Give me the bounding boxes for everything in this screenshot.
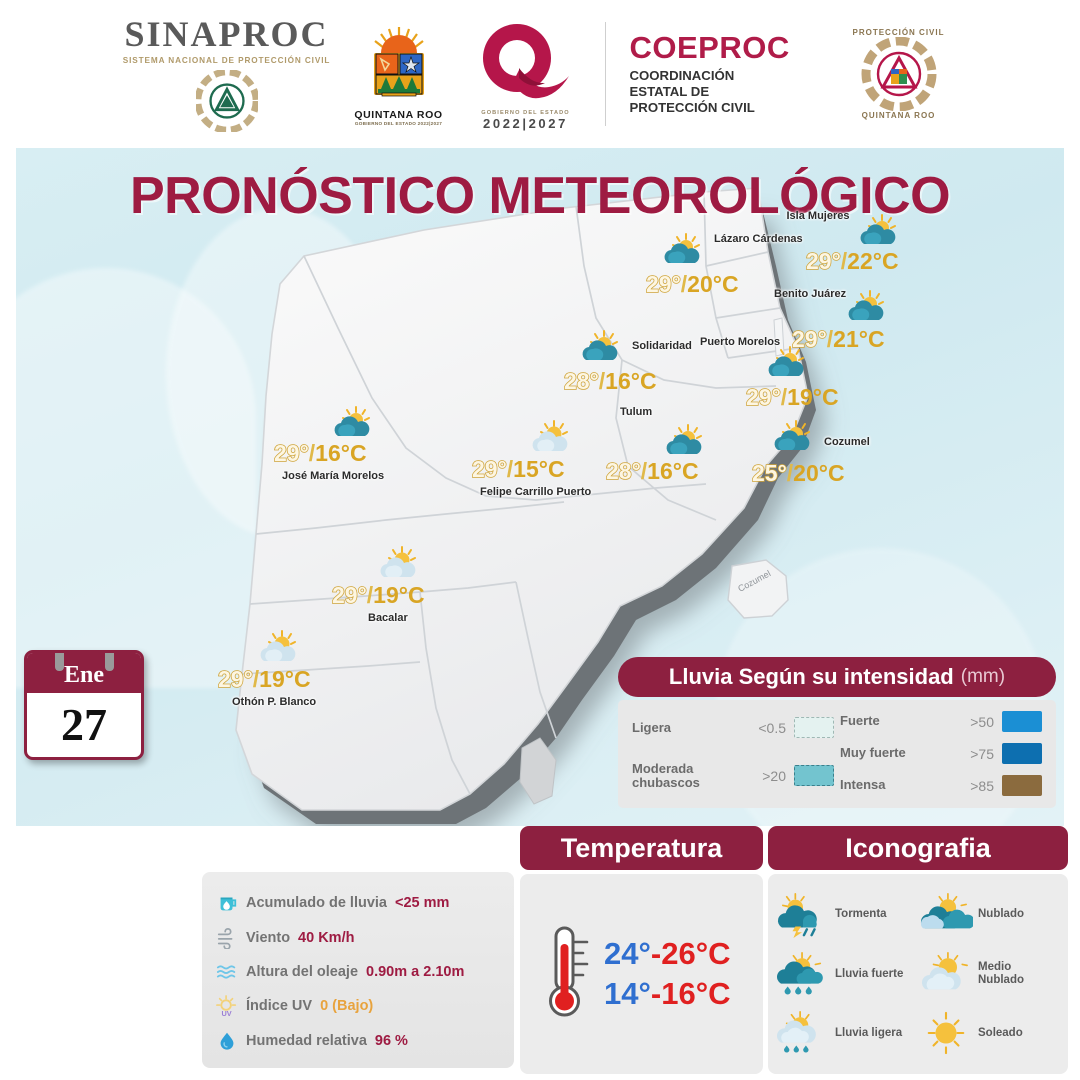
info-row-wave-height: Altura del oleaje 0.90m a 2.10m — [216, 961, 504, 983]
pcqroo-top-label: PROTECCIÓN CIVIL — [852, 28, 944, 37]
chetumal-bay — [520, 738, 556, 804]
legend-entry-lluvia-ligera: Lluvia ligera — [776, 1005, 917, 1062]
coeproc-wordmark: COEPROC — [630, 32, 820, 63]
city-temp-min: 15°C — [513, 456, 564, 482]
wind-icon — [216, 927, 238, 949]
info-label: Viento — [246, 930, 290, 946]
rain-gauge-icon — [216, 892, 238, 914]
info-label: Humedad relativa — [246, 1033, 367, 1049]
rain-level-swatch — [794, 717, 834, 738]
temperature-low-range: 14°-16°C — [604, 976, 730, 1012]
city-name: Cozumel — [824, 436, 870, 448]
header-divider — [605, 22, 606, 126]
sun-behind-cloud-icon — [662, 424, 708, 460]
cozumel-island — [728, 560, 788, 618]
sun-behind-cloud-icon — [844, 290, 890, 326]
partly-cloudy-icon — [919, 951, 973, 997]
calendar-month: Ene — [27, 653, 141, 693]
calendar-day: 27 — [27, 693, 141, 757]
thermometer-icon — [542, 922, 598, 1026]
rain-legend-unit: (mm) — [961, 666, 1005, 688]
city-temp-min: 22°C — [847, 248, 898, 274]
rain-level-label: Moderada chubascos — [632, 762, 736, 790]
date-calendar-badge: Ene 27 — [24, 650, 144, 760]
quintana-roo-coat-of-arms-logo: QUINTANA ROO GOBIERNO DEL ESTADO 2022|20… — [351, 23, 447, 126]
rain-level-label: Muy fuerte — [840, 746, 944, 760]
sun-behind-cloud-icon — [770, 420, 816, 456]
rain-level-swatch — [1002, 711, 1042, 732]
info-value: 40 Km/h — [298, 930, 354, 946]
city-marker-isla-mujeres[interactable]: Isla Mujeres 29°/22°C — [782, 208, 982, 288]
gobierno-years-label: 2022|2027 — [483, 116, 568, 131]
coeproc-logo: COEPROC COORDINACIÓN ESTATAL DE PROTECCI… — [620, 32, 820, 116]
sun-behind-light-cloud-icon — [376, 546, 422, 582]
info-row-humidity: Humedad relativa 96 % — [216, 1030, 504, 1052]
info-value: 0 (Bajo) — [320, 998, 373, 1014]
sun-behind-cloud-icon — [856, 214, 902, 250]
rain-level-swatch — [1002, 775, 1042, 796]
legend-entry-lluvia-fuerte: Lluvia fuerte — [776, 945, 917, 1002]
quintana-roo-sublabel: GOBIERNO DEL ESTADO 2022|2027 — [355, 121, 442, 126]
rain-legend-row: Intensa >85 — [840, 775, 1042, 796]
rain-level-label: Ligera — [632, 721, 736, 735]
rain-legend-body: Ligera <0.5 Moderada chubascos >20 Fuert… — [618, 700, 1056, 808]
iconography-panel-title: Iconografia — [768, 826, 1068, 870]
calendar-ring-right — [105, 650, 114, 671]
waves-icon — [216, 961, 238, 983]
uv-index-icon: UV — [216, 995, 238, 1017]
rain-legend-column-left: Ligera <0.5 Moderada chubascos >20 — [632, 711, 834, 796]
rain-level-value: >85 — [952, 778, 994, 794]
city-temp-max: 28° — [606, 458, 641, 484]
thunderstorm-icon — [776, 892, 830, 938]
city-temp-max: 29° — [274, 440, 309, 466]
city-name: Puerto Morelos — [700, 336, 762, 348]
rain-legend-title: Lluvia Según su intensidad — [669, 664, 954, 690]
city-temp-max: 29° — [806, 248, 841, 274]
sun-behind-cloud-icon — [330, 406, 376, 442]
info-row-uv-index: UV Índice UV 0 (Bajo) — [216, 995, 504, 1017]
heavy-rain-icon — [776, 951, 830, 997]
q-mark-icon — [471, 18, 581, 110]
city-temp-max: 25° — [752, 460, 787, 486]
legend-entry-medio-nublado: Medio Nublado — [919, 945, 1060, 1002]
sinaproc-wordmark: SINAPROC — [124, 16, 328, 52]
calendar-ring-left — [55, 650, 64, 671]
info-label: Índice UV — [246, 998, 312, 1014]
info-label: Altura del oleaje — [246, 964, 358, 980]
city-temp-max: 28° — [564, 368, 599, 394]
city-marker-cozumel[interactable]: Cozumel 25°/20°C — [742, 420, 952, 506]
rain-level-swatch — [794, 765, 834, 786]
coeproc-line3: PROTECCIÓN CIVIL — [630, 100, 820, 116]
rain-legend-row: Fuerte >50 — [840, 711, 1042, 732]
city-temp-min: 16°C — [315, 440, 366, 466]
city-name: Benito Juárez — [774, 288, 838, 300]
svg-text:UV: UV — [221, 1009, 231, 1017]
info-value: <25 mm — [395, 895, 449, 911]
sunny-icon — [919, 1010, 973, 1056]
city-name: Felipe Carrillo Puerto — [480, 486, 591, 498]
temperature-panel-title: Temperatura — [520, 826, 763, 870]
info-row-accumulated-rain: Acumulado de lluvia <25 mm — [216, 892, 504, 914]
legend-label: Medio Nublado — [978, 961, 1060, 987]
sinaproc-logo: SINAPROC SISTEMA NACIONAL DE PROTECCIÓN … — [117, 16, 337, 132]
sun-behind-light-cloud-icon — [256, 630, 302, 666]
legend-label: Nublado — [978, 908, 1024, 921]
legend-label: Lluvia fuerte — [835, 968, 903, 981]
temperature-values: 24°-26°C 14°-16°C — [604, 936, 730, 1012]
quintana-roo-label: QUINTANA ROO — [354, 109, 442, 121]
city-marker-bacalar[interactable]: 29°/19°C Bacalar — [332, 546, 542, 632]
city-temp-max: 29° — [332, 582, 367, 608]
city-temp-min: 20°C — [793, 460, 844, 486]
iconography-panel: Iconografia Tormenta — [768, 826, 1068, 1074]
humidity-drop-icon — [216, 1030, 238, 1052]
rain-level-value: >75 — [952, 746, 994, 762]
rain-intensity-legend: Lluvia Según su intensidad (mm) Ligera <… — [618, 657, 1056, 808]
legend-entry-tormenta: Tormenta — [776, 886, 917, 943]
rain-legend-row: Ligera <0.5 — [632, 717, 834, 738]
sun-behind-light-cloud-icon — [528, 420, 574, 456]
info-row-wind: Viento 40 Km/h — [216, 927, 504, 949]
city-temp-max: 29° — [646, 271, 681, 297]
gobierno-q-logo: GOBIERNO DEL ESTADO 2022|2027 — [461, 18, 591, 131]
pcqroo-bottom-label: QUINTANA ROO — [862, 111, 936, 120]
sun-behind-cloud-icon — [578, 330, 624, 366]
rain-legend-header: Lluvia Según su intensidad (mm) — [618, 657, 1056, 697]
city-marker-othon-p-blanco[interactable]: 29°/19°C Othón P. Blanco — [218, 630, 428, 716]
city-temp-min: 16°C — [605, 368, 656, 394]
city-temp-min: 16°C — [647, 458, 698, 484]
proteccion-civil-qroo-seal-icon — [853, 37, 945, 111]
rain-legend-row: Moderada chubascos >20 — [632, 762, 834, 790]
city-temp-min: 19°C — [373, 582, 424, 608]
rain-legend-column-right: Fuerte >50 Muy fuerte >75 Intensa >85 — [840, 711, 1042, 796]
proteccion-civil-qroo-logo: PROTECCIÓN CIVIL QUINTANA ROO — [834, 28, 964, 120]
info-value: 0.90m a 2.10m — [366, 964, 464, 980]
coeproc-line2: ESTATAL DE — [630, 84, 820, 100]
temp-high-high: -26°C — [651, 936, 731, 971]
rain-level-value: >50 — [952, 714, 994, 730]
temp-low-low: 14° — [604, 976, 651, 1011]
temperature-panel: Temperatura 24°-26°C 14°-16°C — [520, 826, 763, 1074]
cloudy-icon — [919, 892, 973, 938]
city-temp-min: 20°C — [687, 271, 738, 297]
rain-level-value: >20 — [744, 768, 786, 784]
rain-legend-row: Muy fuerte >75 — [840, 743, 1042, 764]
sinaproc-subtitle: SISTEMA NACIONAL DE PROTECCIÓN CIVIL — [123, 56, 331, 65]
city-temp-max: 29° — [218, 666, 253, 692]
temperature-high-range: 24°-26°C — [604, 936, 730, 972]
info-value: 96 % — [375, 1033, 408, 1049]
sun-behind-cloud-icon — [660, 233, 706, 269]
temp-high-low: 24° — [604, 936, 651, 971]
city-name: Tulum — [620, 406, 652, 418]
city-name: José María Morelos — [282, 470, 384, 482]
proteccion-civil-seal-icon — [196, 70, 258, 132]
rain-level-label: Intensa — [840, 778, 944, 792]
rain-level-swatch — [1002, 743, 1042, 764]
rain-level-value: <0.5 — [744, 720, 786, 736]
city-name: Othón P. Blanco — [232, 696, 316, 708]
temp-low-high: -16°C — [651, 976, 731, 1011]
city-name: Isla Mujeres — [786, 210, 850, 222]
legend-entry-nublado: Nublado — [919, 886, 1060, 943]
iconography-panel-body: Tormenta Nublado — [768, 874, 1068, 1074]
rain-level-label: Fuerte — [840, 714, 944, 728]
light-rain-icon — [776, 1010, 830, 1056]
coeproc-line1: COORDINACIÓN — [630, 68, 820, 84]
legend-label: Lluvia ligera — [835, 1027, 902, 1040]
quintana-roo-shield-icon — [360, 23, 438, 107]
legend-entry-soleado: Soleado — [919, 1005, 1060, 1062]
temperature-panel-body: 24°-26°C 14°-16°C — [520, 874, 763, 1074]
city-name: Bacalar — [368, 612, 408, 624]
sun-behind-cloud-icon — [764, 346, 810, 382]
header-logos-bar: SINAPROC SISTEMA NACIONAL DE PROTECCIÓN … — [0, 0, 1080, 148]
city-marker-jose-maria-morelos[interactable]: 29°/16°C José María Morelos — [274, 406, 484, 492]
conditions-info-panel: Acumulado de lluvia <25 mm Viento 40 Km/… — [202, 872, 514, 1068]
city-temp-max: 29° — [472, 456, 507, 482]
legend-label: Soleado — [978, 1027, 1023, 1040]
legend-label: Tormenta — [835, 908, 887, 921]
city-temp-min: 19°C — [259, 666, 310, 692]
info-label: Acumulado de lluvia — [246, 895, 387, 911]
